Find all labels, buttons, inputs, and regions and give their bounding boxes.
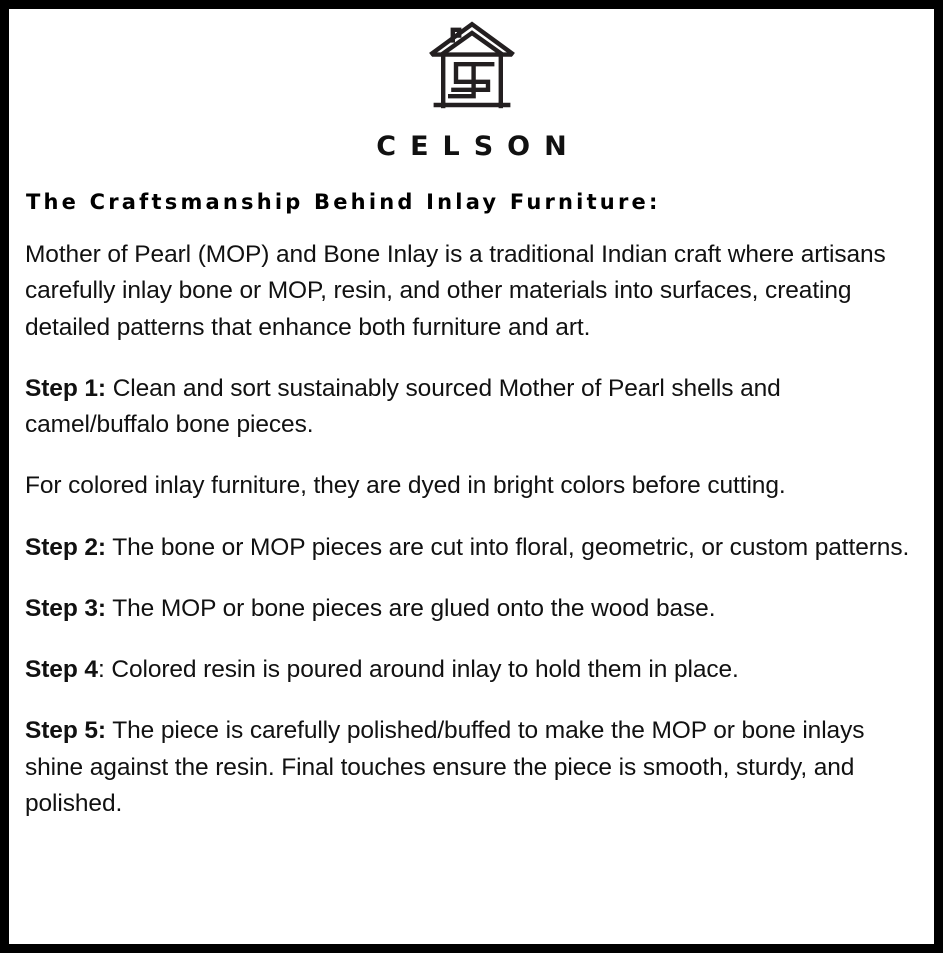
step-5-text: The piece is carefully polished/buffed t… (25, 717, 864, 817)
paragraph-step-5: Step 5: The piece is carefully polished/… (25, 713, 918, 822)
poster-card: CELSON The Craftsmanship Behind Inlay Fu… (0, 0, 943, 953)
house-monogram-logo-icon (424, 19, 520, 119)
brand-wordmark: CELSON (25, 133, 918, 160)
step-4-label: Step 4 (25, 656, 98, 683)
step-1-text: Clean and sort sustainably sourced Mothe… (25, 375, 781, 438)
step-5-label: Step 5: (25, 717, 106, 744)
step-3-label: Step 3: (25, 595, 106, 622)
paragraph-colored-note: For colored inlay furniture, they are dy… (25, 468, 918, 504)
step-2-text: The bone or MOP pieces are cut into flor… (106, 534, 909, 561)
paragraph-step-2: Step 2: The bone or MOP pieces are cut i… (25, 530, 918, 566)
step-2-label: Step 2: (25, 534, 106, 561)
step-4-text: : Colored resin is poured around inlay t… (98, 656, 739, 683)
paragraph-step-3: Step 3: The MOP or bone pieces are glued… (25, 591, 918, 627)
paragraph-intro: Mother of Pearl (MOP) and Bone Inlay is … (25, 237, 918, 346)
brand-block: CELSON (25, 15, 918, 160)
colored-note-text: For colored inlay furniture, they are dy… (25, 472, 786, 499)
step-1-label: Step 1: (25, 375, 106, 402)
paragraph-step-4: Step 4: Colored resin is poured around i… (25, 652, 918, 688)
paragraph-step-1: Step 1: Clean and sort sustainably sourc… (25, 371, 918, 444)
paragraph-intro-text: Mother of Pearl (MOP) and Bone Inlay is … (25, 241, 886, 341)
step-3-text: The MOP or bone pieces are glued onto th… (106, 595, 715, 622)
page-title: The Craftsmanship Behind Inlay Furniture… (26, 190, 918, 215)
body-copy: Mother of Pearl (MOP) and Bone Inlay is … (25, 237, 918, 822)
poster-inner: CELSON The Craftsmanship Behind Inlay Fu… (9, 9, 934, 944)
